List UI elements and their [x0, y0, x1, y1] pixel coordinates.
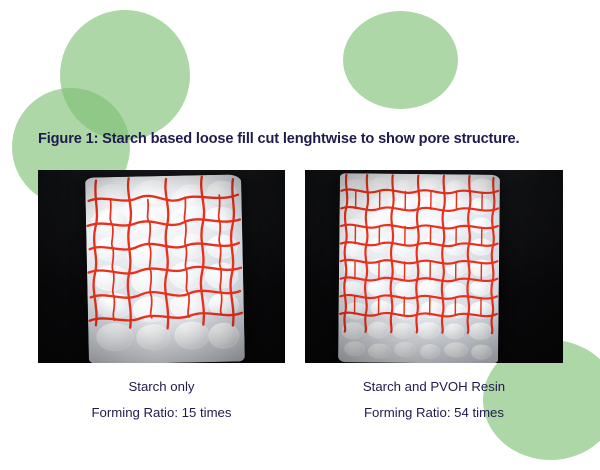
figure-caption: Figure 1: Starch based loose fill cut le… [38, 131, 583, 147]
panel-forming-ratio-left: Forming Ratio: 15 times [38, 400, 285, 426]
figure-slide: Figure 1: Starch based loose fill cut le… [0, 0, 600, 470]
photo-vignette-left [38, 170, 285, 363]
sample-photo-right [305, 170, 563, 363]
panel-material-left: Starch only [38, 374, 285, 400]
green-circle-top-right [343, 11, 458, 109]
photo-vignette-right [305, 170, 563, 363]
green-circle-top-left [60, 10, 190, 140]
panel-label-left: Starch only Forming Ratio: 15 times [38, 374, 285, 426]
panel-forming-ratio-right: Forming Ratio: 54 times [305, 400, 563, 426]
sample-photo-left [38, 170, 285, 363]
panel-label-right: Starch and PVOH Resin Forming Ratio: 54 … [305, 374, 563, 426]
panel-material-right: Starch and PVOH Resin [305, 374, 563, 400]
